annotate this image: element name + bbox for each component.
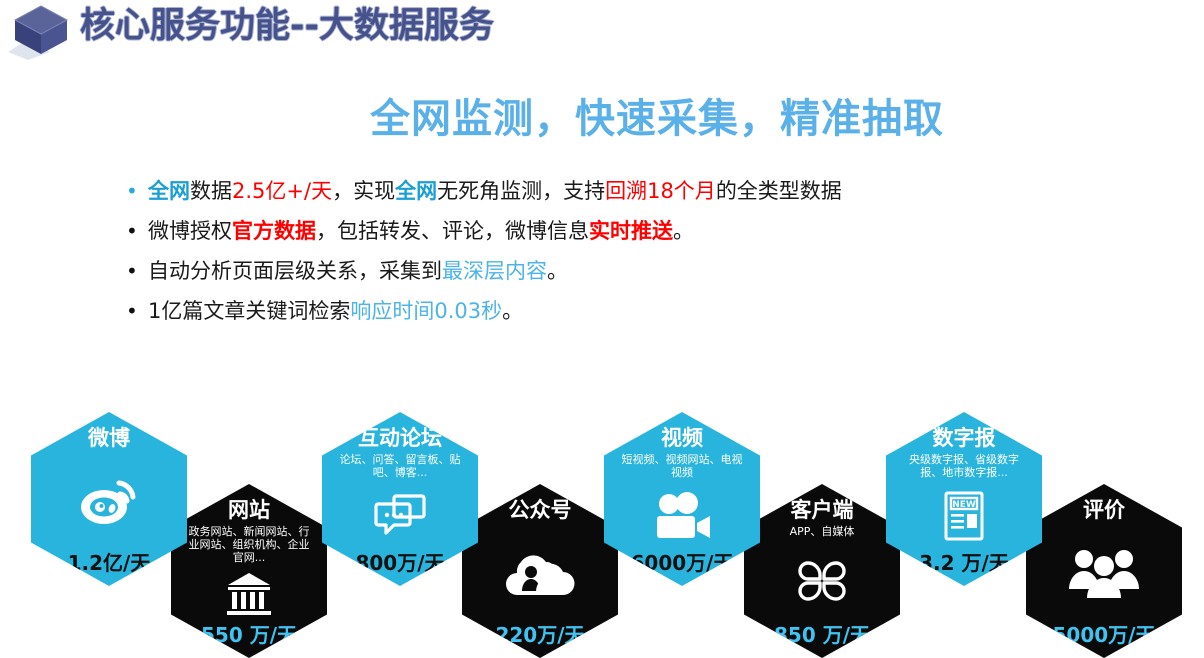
app-grid-icon <box>798 557 846 605</box>
hex-title: 微博 <box>88 412 130 450</box>
bullet-dot-icon: • <box>124 298 148 324</box>
cloud-people-icon <box>505 547 575 599</box>
hex-card-weibo[interactable]: 微博 1.2亿/天 <box>31 412 187 586</box>
bullet-item: •微博授权官方数据，包括转发、评论，微博信息实时推送。 <box>124 218 1024 244</box>
feature-bullet-list: •全网数据2.5亿+/天，实现全网无死角监测，支持回溯18个月的全类型数据•微博… <box>124 178 1024 338</box>
bullet-dot-icon: • <box>124 178 148 204</box>
bullet-text: 自动分析页面层级关系，采集到最深层内容。 <box>148 258 568 284</box>
hex-card-digital-newspaper[interactable]: 数字报央级数字报、省级数字报、地市数字报... NEW 3.2 万/天 <box>886 412 1042 586</box>
hex-title: 客户端 <box>791 484 854 522</box>
header-bar: 核心服务功能--大数据服务 <box>0 0 1204 62</box>
hex-value: 3.2 万/天 <box>919 552 1009 586</box>
newspaper-new-icon: NEW <box>944 491 984 541</box>
three-people-icon <box>1067 547 1141 599</box>
hex-subtitle: 政务网站、新闻网站、行业网站、组织机构、企业官网... <box>187 525 312 564</box>
hex-value: 5000万/天 <box>1053 624 1156 658</box>
weibo-icon <box>78 476 140 526</box>
hex-title: 评价 <box>1083 484 1125 522</box>
svg-text:NEW: NEW <box>952 500 976 510</box>
hex-value: 550 万/天 <box>201 624 297 658</box>
hex-subtitle: 央级数字报、省级数字报、地市数字报... <box>902 453 1027 479</box>
hex-card-official-account[interactable]: 公众号 220万/天 <box>462 484 618 658</box>
hex-title: 互动论坛 <box>358 412 442 450</box>
page-title: 核心服务功能--大数据服务 <box>80 4 494 48</box>
hex-value: 800万/天 <box>355 552 444 586</box>
bullet-text: 1亿篇文章关键词检索响应时间0.03秒。 <box>148 298 523 324</box>
main-heading: 全网监测，快速采集，精准抽取 <box>0 86 1204 144</box>
hex-value: 220万/天 <box>495 624 584 658</box>
hex-value: 1.2亿/天 <box>68 552 151 586</box>
hex-card-client-app[interactable]: 客户端APP、自媒体 850 万/天 <box>744 484 900 658</box>
hex-subtitle: 短视频、视频网站、电视视频 <box>620 453 745 479</box>
hex-card-review[interactable]: 评价 5000万/天 <box>1026 484 1182 658</box>
bullet-item: •自动分析页面层级关系，采集到最深层内容。 <box>124 258 1024 284</box>
bank-building-icon <box>225 571 273 617</box>
bullet-dot-icon: • <box>124 258 148 284</box>
cube-icon <box>8 2 74 60</box>
bullet-text: 微博授权官方数据，包括转发、评论，微博信息实时推送。 <box>148 218 694 244</box>
bullet-dot-icon: • <box>124 218 148 244</box>
hex-subtitle: 论坛、问答、留言板、贴吧、博客... <box>338 453 463 479</box>
hex-title: 网站 <box>228 484 270 522</box>
bullet-text: 全网数据2.5亿+/天，实现全网无死角监测，支持回溯18个月的全类型数据 <box>148 178 842 204</box>
bullet-item: •1亿篇文章关键词检索响应时间0.03秒。 <box>124 298 1024 324</box>
hex-title: 数字报 <box>933 412 996 450</box>
channel-hexagon-row: 微博 1.2亿/天网站政务网站、新闻网站、行业网站、组织机构、企业官网... 5… <box>0 400 1204 658</box>
hex-title: 视频 <box>661 412 703 450</box>
hex-value: 6000万/天 <box>631 552 734 586</box>
hex-title: 公众号 <box>509 484 572 522</box>
bullet-item: •全网数据2.5亿+/天，实现全网无死角监测，支持回溯18个月的全类型数据 <box>124 178 1024 204</box>
chat-bubble-icon <box>374 494 426 538</box>
hex-card-video[interactable]: 视频短视频、视频网站、电视视频 6000万/天 <box>604 412 760 586</box>
hex-card-forum[interactable]: 互动论坛论坛、问答、留言板、贴吧、博客... 800万/天 <box>322 412 478 586</box>
hex-card-website[interactable]: 网站政务网站、新闻网站、行业网站、组织机构、企业官网... 550 万/天 <box>171 484 327 658</box>
hex-value: 850 万/天 <box>774 624 870 658</box>
video-camera-icon <box>653 492 711 540</box>
hex-subtitle: APP、自媒体 <box>760 525 885 538</box>
